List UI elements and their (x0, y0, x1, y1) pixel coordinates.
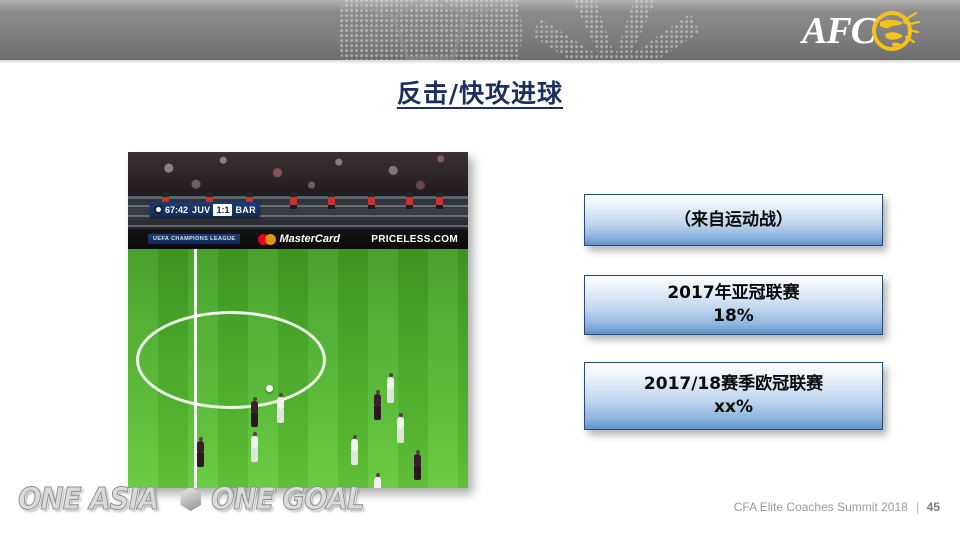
steward-3 (290, 192, 297, 209)
match-score: 1:1 (213, 204, 232, 216)
home-team-abbr: JUV (192, 205, 210, 215)
info-box-afc-2017-text: 2017年亚冠联赛 18% (667, 282, 799, 328)
mastercard-advert: MasterCard (258, 233, 340, 245)
mastercard-advert-text: MasterCard (279, 233, 340, 245)
pitch (128, 249, 468, 488)
player-dark-3 (196, 441, 205, 467)
player-dark-5 (373, 394, 382, 420)
page-title: 反击/快攻进球 (0, 74, 960, 110)
hexagon-ball-icon (179, 487, 203, 511)
afc-logo: AFC (800, 8, 940, 54)
player-white-7 (396, 417, 405, 443)
steward-4 (328, 192, 335, 209)
one-asia-one-goal-slogan: ONE ASIA ONE GOAL (18, 482, 377, 516)
center-circle (136, 311, 326, 409)
steward-7 (436, 192, 443, 209)
page-number: 45 (927, 500, 940, 514)
player-white-6 (386, 377, 395, 403)
mastercard-icon (258, 234, 276, 245)
match-clock: 67:42 (165, 205, 188, 215)
header-divider (0, 60, 960, 64)
player-dark-1 (250, 401, 259, 427)
event-name: CFA Elite Coaches Summit 2018 (734, 500, 908, 514)
football-counter-attack-still: 67:42 JUV 1:1 BAR UEFA CHAMPIONS LEAGUE … (128, 152, 468, 488)
footer-meta: CFA Elite Coaches Summit 2018 | 45 (734, 500, 940, 514)
ucl-advert: UEFA CHAMPIONS LEAGUE (148, 234, 240, 244)
info-box-source[interactable]: （来自运动战） (584, 194, 883, 246)
slogan-second-part: ONE GOAL (211, 482, 364, 517)
steward-6 (406, 192, 413, 209)
slogan-first-part: ONE ASIA (18, 482, 159, 517)
football-icon (266, 385, 273, 392)
match-scoreboard: 67:42 JUV 1:1 BAR (150, 202, 260, 217)
player-white-0 (276, 397, 285, 423)
player-white-4 (350, 439, 359, 465)
info-box-ucl-2017-18[interactable]: 2017/18赛季欧冠联赛 xx% (584, 362, 883, 430)
steward-5 (368, 192, 375, 209)
afc-globe-icon (800, 8, 940, 54)
player-dark-8 (413, 454, 422, 480)
halftone-rays-graphic (520, 0, 710, 60)
player-white-2 (250, 436, 259, 462)
footer-separator: | (916, 500, 919, 514)
priceless-advert: PRICELESS.COM (371, 234, 458, 245)
info-box-source-text: （来自运动战） (674, 209, 793, 232)
uefa-star-ball-icon (154, 205, 163, 214)
away-team-abbr: BAR (235, 205, 255, 215)
stadium-crowd (128, 152, 468, 198)
info-box-ucl-2017-18-text: 2017/18赛季欧冠联赛 xx% (644, 373, 823, 419)
info-box-afc-2017[interactable]: 2017年亚冠联赛 18% (584, 275, 883, 335)
advertising-boards: UEFA CHAMPIONS LEAGUE MasterCard PRICELE… (128, 229, 468, 249)
